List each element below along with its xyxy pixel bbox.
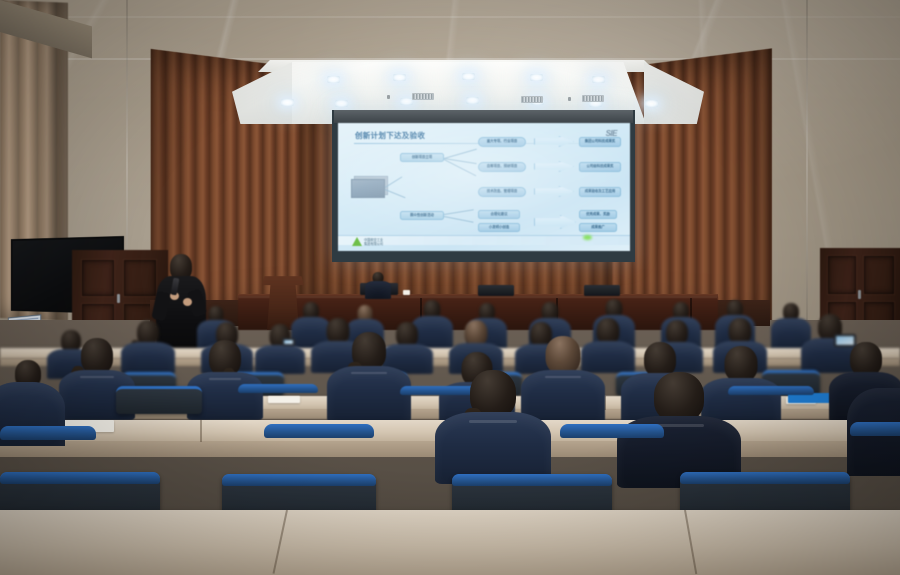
diagram-node-right-1: 公司级科技成果奖 [579,162,621,172]
air-vent [582,95,604,102]
chair[interactable] [116,386,202,414]
attendee-head [654,372,704,422]
diagram-node-left-1: 自筹项目、预研项目 [478,162,526,172]
table-monitor [584,285,620,296]
chair-backrest[interactable] [264,424,374,438]
attendee-body [327,366,411,422]
downlight [281,99,294,106]
diagram-arrow [534,186,574,197]
footer-logo-line2: 集团有限公司 [364,242,383,246]
downlight [335,100,348,107]
chair-backrest[interactable] [850,422,900,436]
smartphone[interactable] [282,338,295,346]
diagram-arrow [534,215,576,229]
door-handle-icon[interactable] [858,290,861,299]
seated-host-body [365,281,391,299]
footer-logo: 中国航空工业 集团有限公司 [352,237,383,246]
diagram-root-node [351,179,385,198]
diagram-connector [444,149,477,159]
sprinkler-head [568,97,571,101]
attendee-foreground [434,370,552,480]
door-handle-icon[interactable] [117,294,120,303]
slide-title: 创新计划下达及验收 [355,130,425,141]
diagram-node-left-0: 重大专项、行业项目 [478,137,526,147]
downlight [466,97,479,104]
diagram-connector [444,216,474,222]
diagram-node-left-2: 技术改造、管理项目 [478,187,526,197]
laser-pointer-dot [583,235,592,240]
air-vent [521,96,543,103]
diagram-arrow [534,136,574,147]
chair-backrest[interactable] [452,474,612,486]
phone-screen [284,340,293,344]
wall-seam-top [0,16,900,18]
presenter-hand [183,298,192,306]
diagram-connector [444,209,474,214]
diagram-node-left-3: 合理化建议 [478,210,520,219]
downlight [462,73,475,80]
diagram-node-right-3: 优秀成果、奖励 [579,210,617,219]
door-panel [864,256,894,294]
attendee-head [81,338,113,374]
door-panel [828,256,856,294]
seated-host [364,272,392,298]
projection-screen-housing [334,110,633,123]
chair-backrest[interactable] [0,426,96,440]
sprinkler-head [387,95,390,99]
diagram-node-right-4: 成果推广 [579,223,617,232]
diagram-connector [385,189,406,198]
door-panel [82,260,114,296]
diagram-node-right-0: 集团公司科技成果奖 [579,137,621,147]
attendee-head [850,342,882,376]
collar [469,420,517,423]
wall-seam-right [806,0,808,330]
table-paper [403,290,410,295]
downlight [645,100,658,107]
desk-seam [200,420,202,442]
chair-backrest[interactable] [680,472,850,484]
chair-backrest[interactable] [0,472,160,484]
collar [351,372,387,374]
attendee [326,332,412,420]
diagram-node-right-2: 成果验收及工艺应用 [579,187,621,197]
diagram-branch-node-0: 创新项目立项 [400,153,444,162]
diagram-connector [385,176,402,187]
diagram-arrow [534,161,574,172]
desk-row-foreground [0,510,900,575]
downlight [327,76,340,83]
air-vent [412,93,434,100]
projected-slide: 创新计划下达及验收 SIE 创新项目立项 群众性创新活动 重大专项、行业项目 自… [338,123,630,251]
collar [209,378,241,380]
chair-backrest[interactable] [238,384,318,393]
attendee-head [546,336,581,374]
desk-paper [268,396,300,403]
conference-room-photo: 创新计划下达及验收 SIE 创新项目立项 群众性创新活动 重大专项、行业项目 自… [0,0,900,575]
downlight [592,76,605,83]
diagram-node-left-4: 小发明小创造 [478,223,520,232]
table-monitor [478,285,514,296]
chair-backrest[interactable] [222,474,376,486]
collar [80,376,114,378]
chair-backrest[interactable] [560,424,664,438]
diagram-branch-node-1: 群众性创新活动 [400,211,444,220]
downlight [393,74,406,81]
green-triangle-icon [352,237,362,246]
downlight [530,74,543,81]
